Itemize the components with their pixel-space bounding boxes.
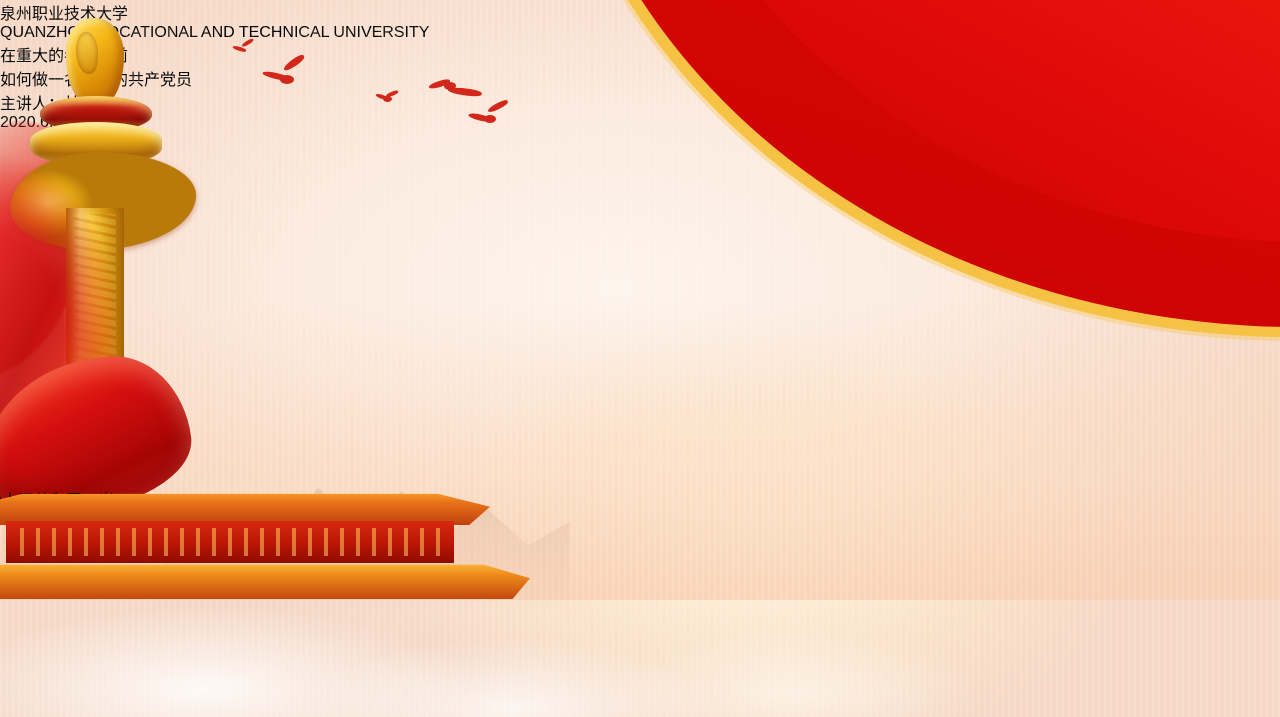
- flying-dove-icon: [428, 78, 482, 98]
- presentation-slide: 中华人民共和国万岁 泉州职业技术大学 QUANZHOU VOCATIONAL A…: [0, 0, 1280, 717]
- flying-dove-icon: [232, 44, 254, 56]
- tiananmen-gate: 中华人民共和国万岁: [0, 487, 530, 717]
- flying-dove-icon: [375, 92, 399, 104]
- gate-lower-roof: [0, 559, 530, 599]
- gate-upper-body: [6, 521, 454, 563]
- huabiao-lion-icon: [66, 18, 124, 104]
- flying-dove-icon: [262, 66, 306, 88]
- gate-lower-body: [0, 595, 510, 687]
- flying-dove-icon: [468, 108, 510, 126]
